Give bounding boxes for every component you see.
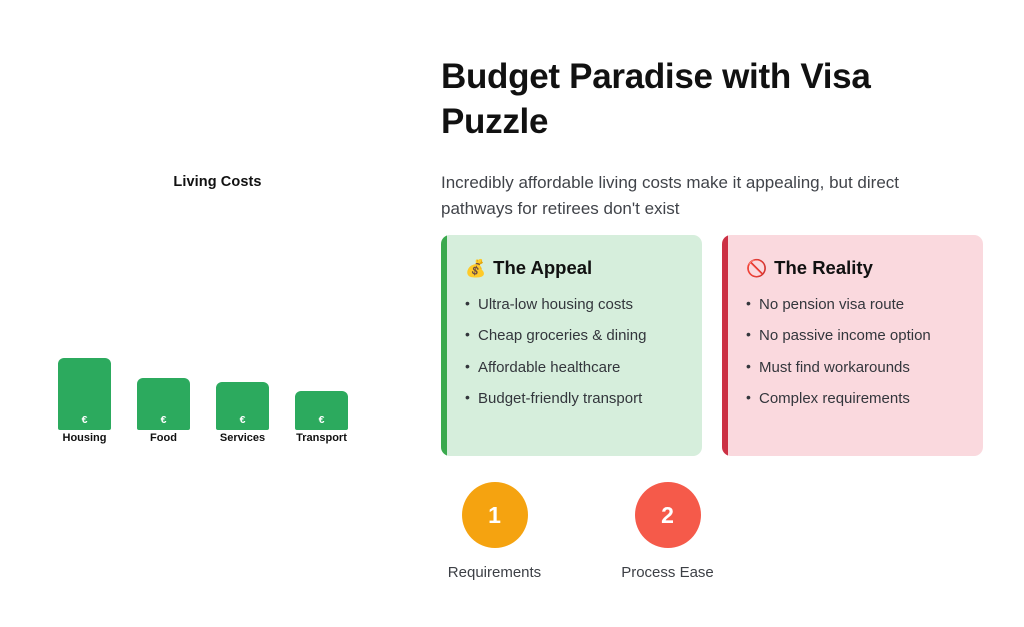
page-subtitle: Incredibly affordable living costs make … — [441, 170, 949, 222]
x-tick-transport: Transport — [295, 432, 348, 444]
list-item: No passive income option — [746, 326, 965, 346]
bar-column: € — [58, 234, 111, 430]
bar-column: € — [216, 234, 269, 430]
bar-column: € — [295, 234, 348, 430]
metric-badges: 1 Requirements 2 Process Ease — [441, 482, 721, 581]
list-item: Affordable healthcare — [465, 358, 684, 378]
bar-column: € — [137, 234, 190, 430]
badge-requirements: 1 Requirements — [441, 482, 548, 581]
bar-food: € — [137, 378, 190, 430]
chart-title: Living Costs — [0, 174, 435, 190]
bar-value-label: € — [137, 415, 190, 426]
badge-label-requirements: Requirements — [448, 564, 541, 581]
page-title: Budget Paradise with Visa Puzzle — [441, 55, 941, 145]
card-accent-bar — [441, 235, 447, 456]
x-tick-services: Services — [216, 432, 269, 444]
bar-value-label: € — [216, 415, 269, 426]
comparison-cards: 💰 The Appeal Ultra-low housing costs Che… — [441, 235, 983, 456]
badge-number: 2 — [661, 502, 674, 529]
chart-plot-area: € € € € — [0, 230, 435, 430]
list-item: Complex requirements — [746, 389, 965, 409]
prohibited-sign-icon: 🚫 — [746, 260, 767, 277]
list-item: Budget-friendly transport — [465, 389, 684, 409]
card-the-reality: 🚫 The Reality No pension visa route No p… — [722, 235, 983, 456]
money-bag-icon: 💰 — [465, 260, 486, 277]
card-accent-bar — [722, 235, 728, 456]
x-axis-tick-labels: Housing Food Services Transport — [58, 432, 388, 444]
card-title-text: The Appeal — [493, 257, 592, 279]
list-item: No pension visa route — [746, 295, 965, 315]
bar-value-label: € — [295, 415, 348, 426]
card-title-text: The Reality — [774, 257, 873, 279]
x-tick-food: Food — [137, 432, 190, 444]
infographic-slide: Living Costs € € € — [0, 0, 1024, 627]
bar-series: € € € € — [58, 234, 388, 430]
badge-number: 1 — [488, 502, 501, 529]
card-title-the-reality: 🚫 The Reality — [746, 257, 965, 279]
bar-services: € — [216, 382, 269, 430]
bar-value-label: € — [58, 415, 111, 426]
badge-circle-1: 1 — [462, 482, 528, 548]
list-item: Cheap groceries & dining — [465, 326, 684, 346]
x-tick-housing: Housing — [58, 432, 111, 444]
content-panel: Budget Paradise with Visa Puzzle Incredi… — [441, 0, 1024, 627]
bullet-list-appeal: Ultra-low housing costs Cheap groceries … — [465, 295, 684, 409]
badge-process-ease: 2 Process Ease — [614, 482, 721, 581]
list-item: Ultra-low housing costs — [465, 295, 684, 315]
bar-transport: € — [295, 391, 348, 430]
list-item: Must find workarounds — [746, 358, 965, 378]
bullet-list-reality: No pension visa route No passive income … — [746, 295, 965, 409]
bar-housing: € — [58, 358, 111, 430]
card-title-the-appeal: 💰 The Appeal — [465, 257, 684, 279]
living-costs-chart: Living Costs € € € — [0, 0, 435, 627]
card-the-appeal: 💰 The Appeal Ultra-low housing costs Che… — [441, 235, 702, 456]
badge-label-process-ease: Process Ease — [621, 564, 714, 581]
badge-circle-2: 2 — [635, 482, 701, 548]
